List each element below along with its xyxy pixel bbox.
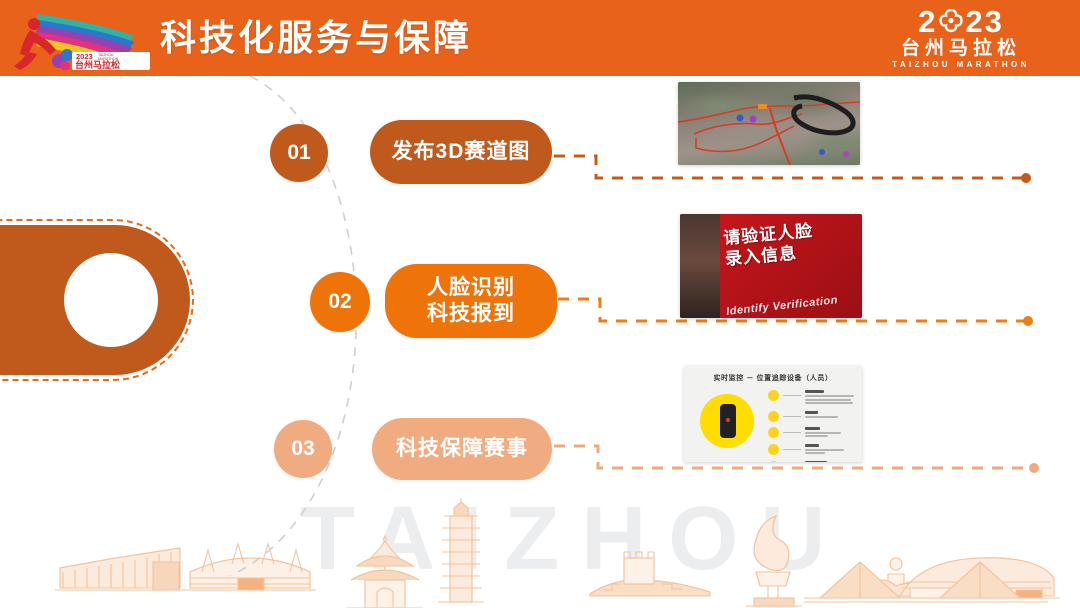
tracking-device-icon (720, 404, 736, 438)
taizhou-watermark: TAIZHOU (300, 494, 847, 584)
bullet-leader (783, 449, 801, 450)
bullet-leader (783, 416, 801, 417)
svg-text:台州马拉松: 台州马拉松 (75, 59, 120, 70)
step-label-text-02-line1: 人脸识别 (427, 275, 515, 301)
tracking-bullet-list (768, 390, 856, 462)
event-logo-year: 2 23 (858, 6, 1064, 38)
bullet-dot (768, 427, 779, 438)
event-logo-chinese: 台州马拉松 (858, 38, 1064, 59)
taizhou-marathon-runner-logo: 2023 TAIZHOU MARATHON 台州马拉松 (8, 6, 158, 70)
step-label-pill-03[interactable]: 科技保障赛事 (372, 418, 552, 480)
bullet-text (805, 411, 856, 420)
bullet-text (805, 390, 856, 406)
step-label-text-02-line2: 科技报到 (427, 301, 515, 327)
step-number-03[interactable]: 03 (274, 420, 332, 478)
event-logo-year-left: 2 (918, 6, 937, 38)
bullet-text (805, 444, 856, 456)
list-item (768, 411, 856, 422)
bullet-text (805, 427, 856, 439)
step-label-text-03: 科技保障赛事 (396, 436, 528, 462)
page-title: 科技化服务与保障 (160, 12, 472, 64)
list-item (768, 461, 856, 463)
slide-canvas: TAIZHOU (0, 0, 1080, 608)
step-label-pill-01[interactable]: 发布3D赛道图 (370, 120, 552, 184)
event-logo-year-right: 23 (965, 6, 1003, 38)
flower-icon (938, 9, 964, 35)
face-verification-sign-thumbnail[interactable]: 请验证人脸 录入信息 Identify Verification (680, 214, 862, 318)
event-logo-english: TAIZHOU MARATHON (858, 59, 1064, 70)
bullet-leader (783, 395, 801, 396)
step-number-01[interactable]: 01 (270, 124, 328, 182)
step-label-text-01: 发布3D赛道图 (392, 139, 531, 165)
left-badge-hole (64, 253, 158, 347)
bullet-dot (768, 461, 779, 463)
bullet-dot (768, 390, 779, 401)
left-decorative-badge (0, 225, 190, 375)
bullet-dot (768, 444, 779, 455)
list-item (768, 427, 856, 439)
realtime-tracking-device-thumbnail[interactable]: 实时监控 － 位置追踪设备（人员） (684, 366, 862, 462)
bullet-dot (768, 411, 779, 422)
event-logo-2023: 2 23 台州马拉松 TAIZHOU MARATHON (858, 6, 1064, 72)
slide-header: 2023 TAIZHOU MARATHON 台州马拉松 科技化服务与保障 2 2… (0, 0, 1080, 76)
tracking-slide-title: 实时监控 － 位置追踪设备（人员） (684, 373, 862, 383)
step-number-02[interactable]: 02 (310, 272, 370, 332)
list-item (768, 390, 856, 406)
bullet-text (805, 461, 856, 463)
bullet-leader (783, 432, 801, 433)
step-label-pill-02[interactable]: 人脸识别 科技报到 (385, 264, 557, 338)
sign-side-scene (680, 214, 720, 318)
list-item (768, 444, 856, 456)
